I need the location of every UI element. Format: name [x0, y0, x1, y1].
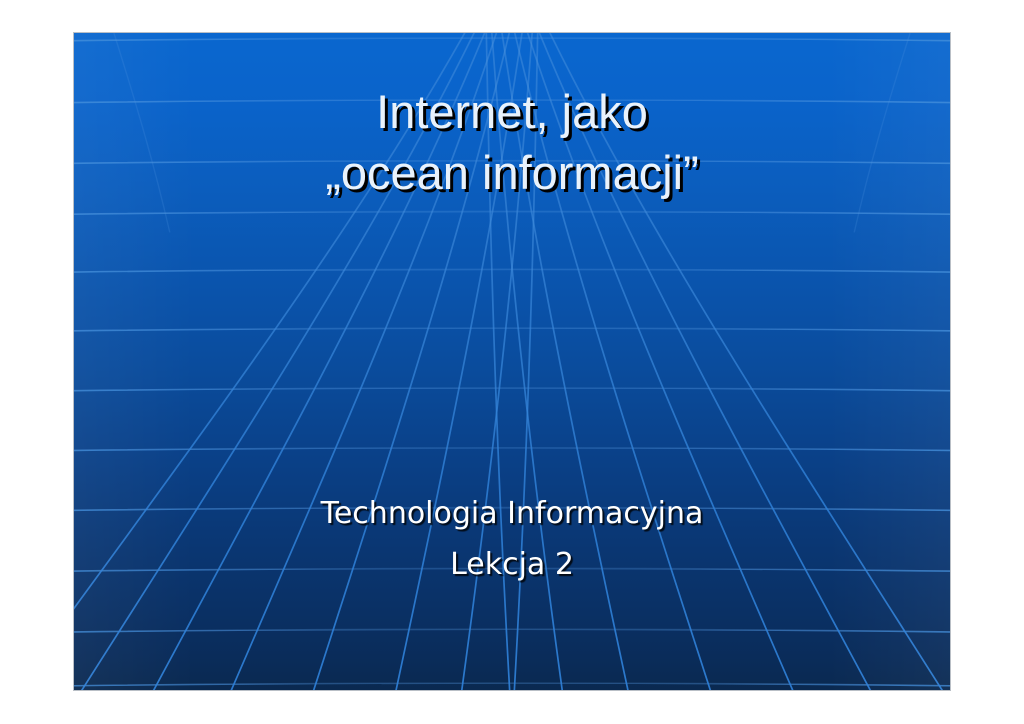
title-line-2: „ocean informacji” [74, 142, 950, 203]
slide-subtitle: Technologia Informacyjna Lekcja 2 [74, 488, 950, 590]
subtitle-line-2: Lekcja 2 [74, 539, 950, 590]
subtitle-line-1: Technologia Informacyjna [74, 488, 950, 539]
presentation-slide: Internet, jako „ocean informacji” Techno… [73, 32, 951, 691]
slide-text-layer: Internet, jako „ocean informacji” Techno… [74, 33, 950, 690]
page-canvas: Internet, jako „ocean informacji” Techno… [0, 0, 1024, 724]
slide-title: Internet, jako „ocean informacji” [74, 81, 950, 203]
title-line-1: Internet, jako [74, 81, 950, 142]
